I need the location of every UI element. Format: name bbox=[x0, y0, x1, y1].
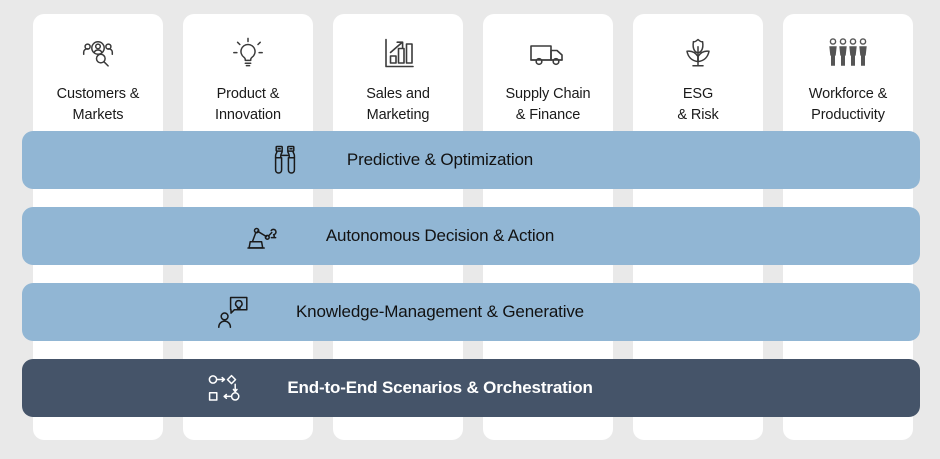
customer-research-icon bbox=[75, 32, 121, 74]
capability-bar-label: End-to-End Scenarios & Orchestration bbox=[287, 378, 592, 398]
domain-column-label: Product & Innovation bbox=[215, 84, 281, 125]
person-idea-bubble-icon bbox=[214, 292, 254, 332]
tulip-flower-icon bbox=[675, 32, 721, 74]
capability-bar-label: Predictive & Optimization bbox=[347, 150, 533, 170]
capability-bar-end-to-end-scenarios-orchestration[interactable]: End-to-End Scenarios & Orchestration bbox=[22, 359, 920, 417]
people-group-icon bbox=[825, 32, 871, 74]
domain-column-label: Customers & Markets bbox=[57, 84, 140, 125]
domain-column-label: Workforce & Productivity bbox=[809, 84, 887, 125]
capability-bar-predictive-optimization[interactable]: Predictive & Optimization bbox=[22, 131, 920, 189]
bar-chart-growth-icon bbox=[375, 32, 421, 74]
domain-column-label: Sales and Marketing bbox=[366, 84, 430, 125]
domain-column-label: Supply Chain & Finance bbox=[505, 84, 590, 125]
delivery-truck-icon bbox=[525, 32, 571, 74]
capability-matrix-diagram: Customers & Markets Product & Innovation bbox=[0, 0, 940, 459]
capability-bar-autonomous-decision-action[interactable]: Autonomous Decision & Action bbox=[22, 207, 920, 265]
lightbulb-icon bbox=[225, 32, 271, 74]
workflow-nodes-icon bbox=[205, 368, 245, 408]
domain-column-label: ESG & Risk bbox=[677, 84, 718, 125]
binoculars-icon bbox=[265, 140, 305, 180]
capability-bar-label: Knowledge-Management & Generative bbox=[296, 302, 584, 322]
capability-bar-knowledge-management-generative[interactable]: Knowledge-Management & Generative bbox=[22, 283, 920, 341]
robot-arm-icon bbox=[244, 216, 284, 256]
capability-bar-label: Autonomous Decision & Action bbox=[326, 226, 554, 246]
